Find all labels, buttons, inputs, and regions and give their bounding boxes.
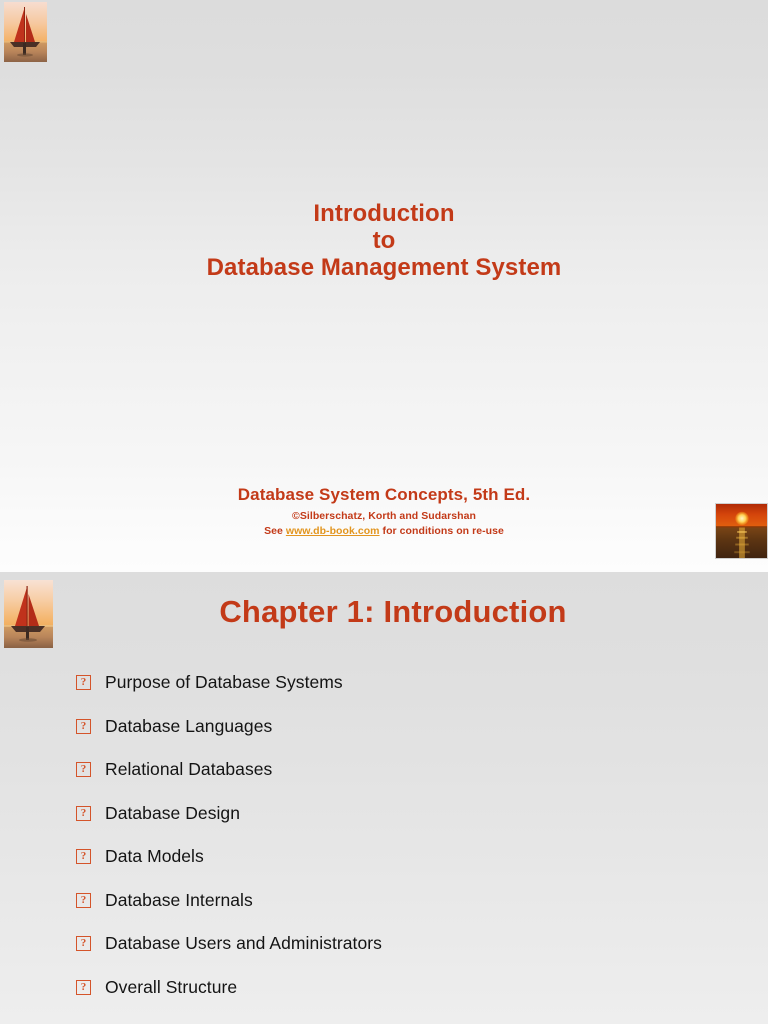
list-item: ? Database Internals xyxy=(76,890,716,934)
list-item-label: Database Languages xyxy=(105,716,272,736)
title-slide: Introduction to Database Management Syst… xyxy=(0,0,768,572)
list-item: ? Data Models xyxy=(76,846,716,890)
reuse-prefix: See xyxy=(264,525,286,537)
list-item-label: Database Design xyxy=(105,803,240,823)
missing-glyph-bullet-icon: ? xyxy=(76,719,91,734)
list-item: ? Database Design xyxy=(76,803,716,847)
list-item-label: Data Models xyxy=(105,846,204,866)
list-item-label: Relational Databases xyxy=(105,759,272,779)
chapter-slide: Chapter 1: Introduction ? Purpose of Dat… xyxy=(0,572,768,1024)
missing-glyph-bullet-icon: ? xyxy=(76,675,91,690)
missing-glyph-bullet-icon: ? xyxy=(76,893,91,908)
missing-glyph-bullet-icon: ? xyxy=(76,936,91,951)
missing-glyph-bullet-icon: ? xyxy=(76,762,91,777)
chapter-heading: Chapter 1: Introduction xyxy=(0,594,768,630)
list-item: ? Database Users and Administrators xyxy=(76,933,716,977)
list-item-label: Database Internals xyxy=(105,890,253,910)
list-item: ? Database Languages xyxy=(76,716,716,760)
title-slide-heading: Introduction to Database Management Syst… xyxy=(0,200,768,281)
db-book-link[interactable]: www.db-book.com xyxy=(286,525,380,537)
title-line-2: to xyxy=(0,227,768,254)
credits-block: Database System Concepts, 5th Ed. ©Silbe… xyxy=(0,484,768,539)
list-item: ? Overall Structure xyxy=(76,977,716,1021)
title-line-3: Database Management System xyxy=(0,254,768,281)
list-item-label: Purpose of Database Systems xyxy=(105,672,343,692)
missing-glyph-bullet-icon: ? xyxy=(76,849,91,864)
presentation-page: Introduction to Database Management Syst… xyxy=(0,0,768,1024)
sailboat-sunset-image-top-left xyxy=(4,2,47,62)
list-item-label: Overall Structure xyxy=(105,977,237,997)
agenda-list: ? Purpose of Database Systems ? Database… xyxy=(76,672,716,1020)
reuse-notice: See www.db-book.com for conditions on re… xyxy=(0,524,768,538)
reuse-suffix: for conditions on re-use xyxy=(380,525,504,537)
title-line-1: Introduction xyxy=(0,200,768,227)
missing-glyph-bullet-icon: ? xyxy=(76,980,91,995)
list-item: ? Relational Databases xyxy=(76,759,716,803)
book-title: Database System Concepts, 5th Ed. xyxy=(0,484,768,505)
list-item: ? Purpose of Database Systems xyxy=(76,672,716,716)
authors-copyright: ©Silberschatz, Korth and Sudarshan xyxy=(0,509,768,523)
missing-glyph-bullet-icon: ? xyxy=(76,806,91,821)
list-item-label: Database Users and Administrators xyxy=(105,933,382,953)
